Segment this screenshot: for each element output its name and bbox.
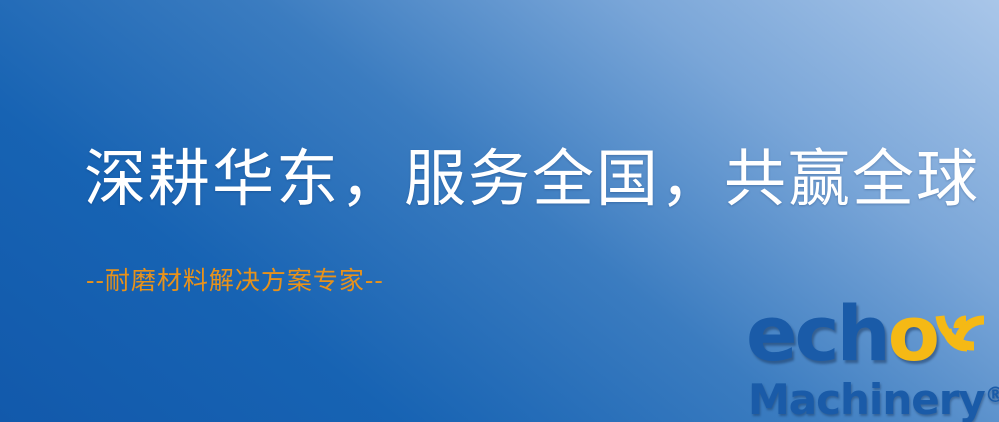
signal-waves-icon	[928, 290, 994, 352]
logo-wordmark: echo	[746, 296, 937, 372]
page-subtitle: --耐磨材料解决方案专家--	[86, 268, 384, 293]
logo-tagline: Machinery®	[748, 372, 999, 422]
logo-tagline-text: Machinery	[748, 375, 985, 422]
hero-banner: 深耕华东，服务全国，共赢全球 --耐磨材料解决方案专家-- echo Machi…	[0, 0, 999, 422]
page-title: 深耕华东，服务全国，共赢全球	[84, 148, 980, 210]
registered-trademark-icon: ®	[985, 383, 999, 407]
company-logo[interactable]: echo Machinery®	[742, 296, 994, 422]
logo-wordmark-blue: ech	[746, 289, 888, 378]
